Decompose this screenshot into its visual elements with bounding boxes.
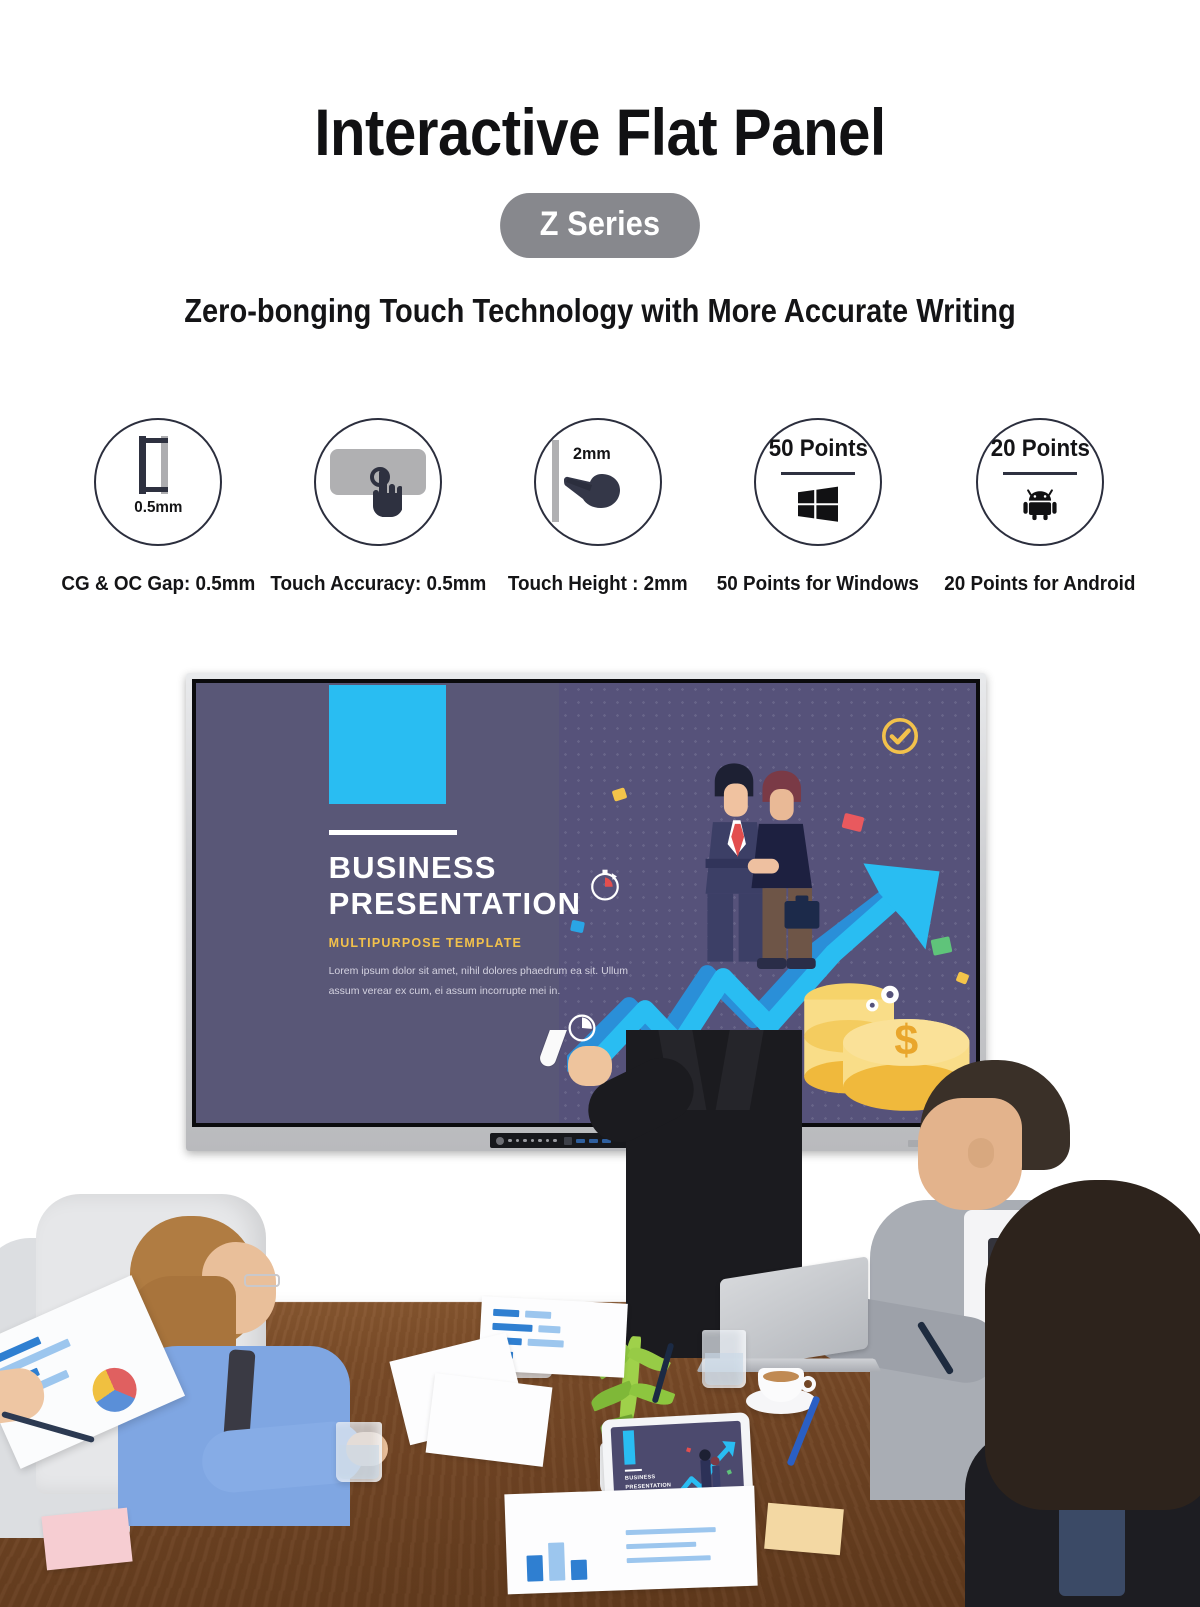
coffee-cup — [746, 1362, 816, 1414]
water-glass — [336, 1422, 382, 1482]
hero-subtitle: Zero-bonging Touch Technology with More … — [72, 292, 1128, 330]
feature-android-points: 20 Points 20 Points f — [928, 418, 1152, 596]
feature-cg-oc-gap: 0.5mm CG & OC Gap: 0.5mm — [48, 418, 268, 596]
document-sheet — [504, 1486, 757, 1595]
hand-glyph — [370, 469, 402, 517]
panel-gap-icon-caption: 0.5mm — [134, 499, 182, 517]
series-badge-wrap: Z Series — [0, 193, 1200, 258]
divider — [781, 472, 855, 475]
document-sheet — [426, 1373, 553, 1467]
seated-woman-right — [975, 1180, 1200, 1607]
handshake-figures-icon — [667, 727, 851, 1000]
finger-point-edge-icon: 2mm — [546, 438, 650, 526]
android-points-count: 20 Points — [990, 435, 1089, 463]
series-badge: Z Series — [500, 193, 700, 258]
feature-circle: 0.5mm — [94, 418, 222, 546]
confetti — [612, 787, 628, 801]
feature-touch-height: 2mm Touch Height : 2mm — [488, 418, 708, 596]
pointing-hand-glyph — [562, 464, 630, 512]
feature-touch-accuracy: Touch Accuracy: 0.5mm — [268, 418, 488, 596]
feature-circle: 2mm — [534, 418, 662, 546]
feature-label-windows-points: 50 Points for Windows — [717, 572, 919, 596]
feature-label-cg-oc-gap: CG & OC Gap: 0.5mm — [61, 572, 255, 596]
feature-circle: 20 Points — [976, 418, 1104, 546]
stopwatch-icon — [588, 868, 622, 902]
divider — [1003, 472, 1077, 475]
feature-icon-row: 0.5mm CG & OC Gap: 0.5mm Touch Accuracy:… — [0, 418, 1200, 596]
feature-label-android-points: 20 Points for Android — [944, 572, 1135, 596]
panel-gap-icon — [131, 436, 185, 494]
feature-circle — [314, 418, 442, 546]
slide-accent-block — [329, 685, 446, 804]
page-title: Interactive Flat Panel — [72, 98, 1128, 167]
confetti — [570, 919, 585, 932]
android-logo-icon — [1019, 483, 1061, 525]
feature-circle: 50 Points — [754, 418, 882, 546]
handheld-chart-sheet — [0, 1306, 186, 1446]
hero-section: Interactive Flat Panel Z Series Zero-bon… — [0, 0, 1200, 330]
slide-kicker: MULTIPURPOSE TEMPLATE — [329, 936, 523, 950]
water-glass — [702, 1330, 746, 1388]
gears-icon — [859, 982, 905, 1016]
sticky-note — [41, 1508, 132, 1571]
touch-height-icon-caption: 2mm — [573, 444, 611, 464]
finger-tap-screen-icon — [330, 443, 426, 521]
feature-windows-points: 50 Points 50 Points for Windows — [708, 418, 928, 596]
windows-points-count: 50 Points — [768, 435, 867, 463]
feature-label-touch-height: Touch Height : 2mm — [508, 572, 688, 596]
slide-rule — [329, 830, 458, 835]
feature-label-touch-accuracy: Touch Accuracy: 0.5mm — [270, 572, 486, 596]
windows-logo-icon — [797, 483, 839, 525]
check-badge-icon — [882, 718, 918, 754]
sticky-note — [764, 1503, 844, 1555]
eyeglasses — [244, 1274, 280, 1287]
product-banner-page: Interactive Flat Panel Z Series Zero-bon… — [0, 0, 1200, 1607]
